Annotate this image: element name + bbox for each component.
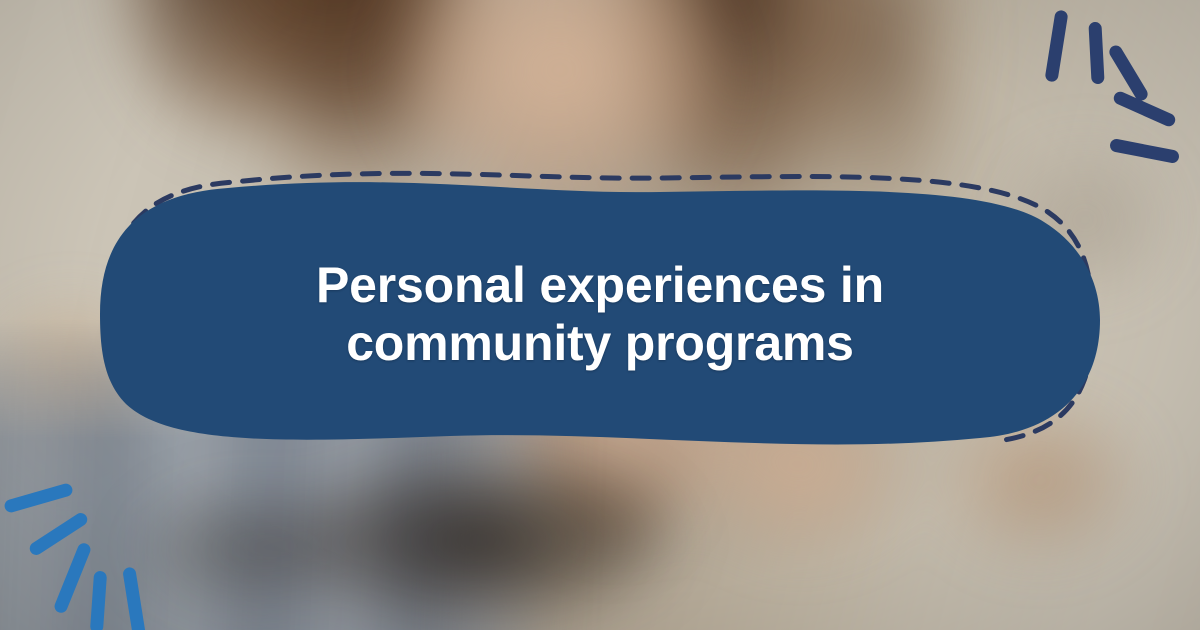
headline-line-1: Personal experiences in xyxy=(316,256,884,314)
headline: Personal experiences in community progra… xyxy=(100,180,1100,448)
banner: Personal experiences in community progra… xyxy=(0,0,1200,630)
headline-line-2: community programs xyxy=(346,314,854,372)
